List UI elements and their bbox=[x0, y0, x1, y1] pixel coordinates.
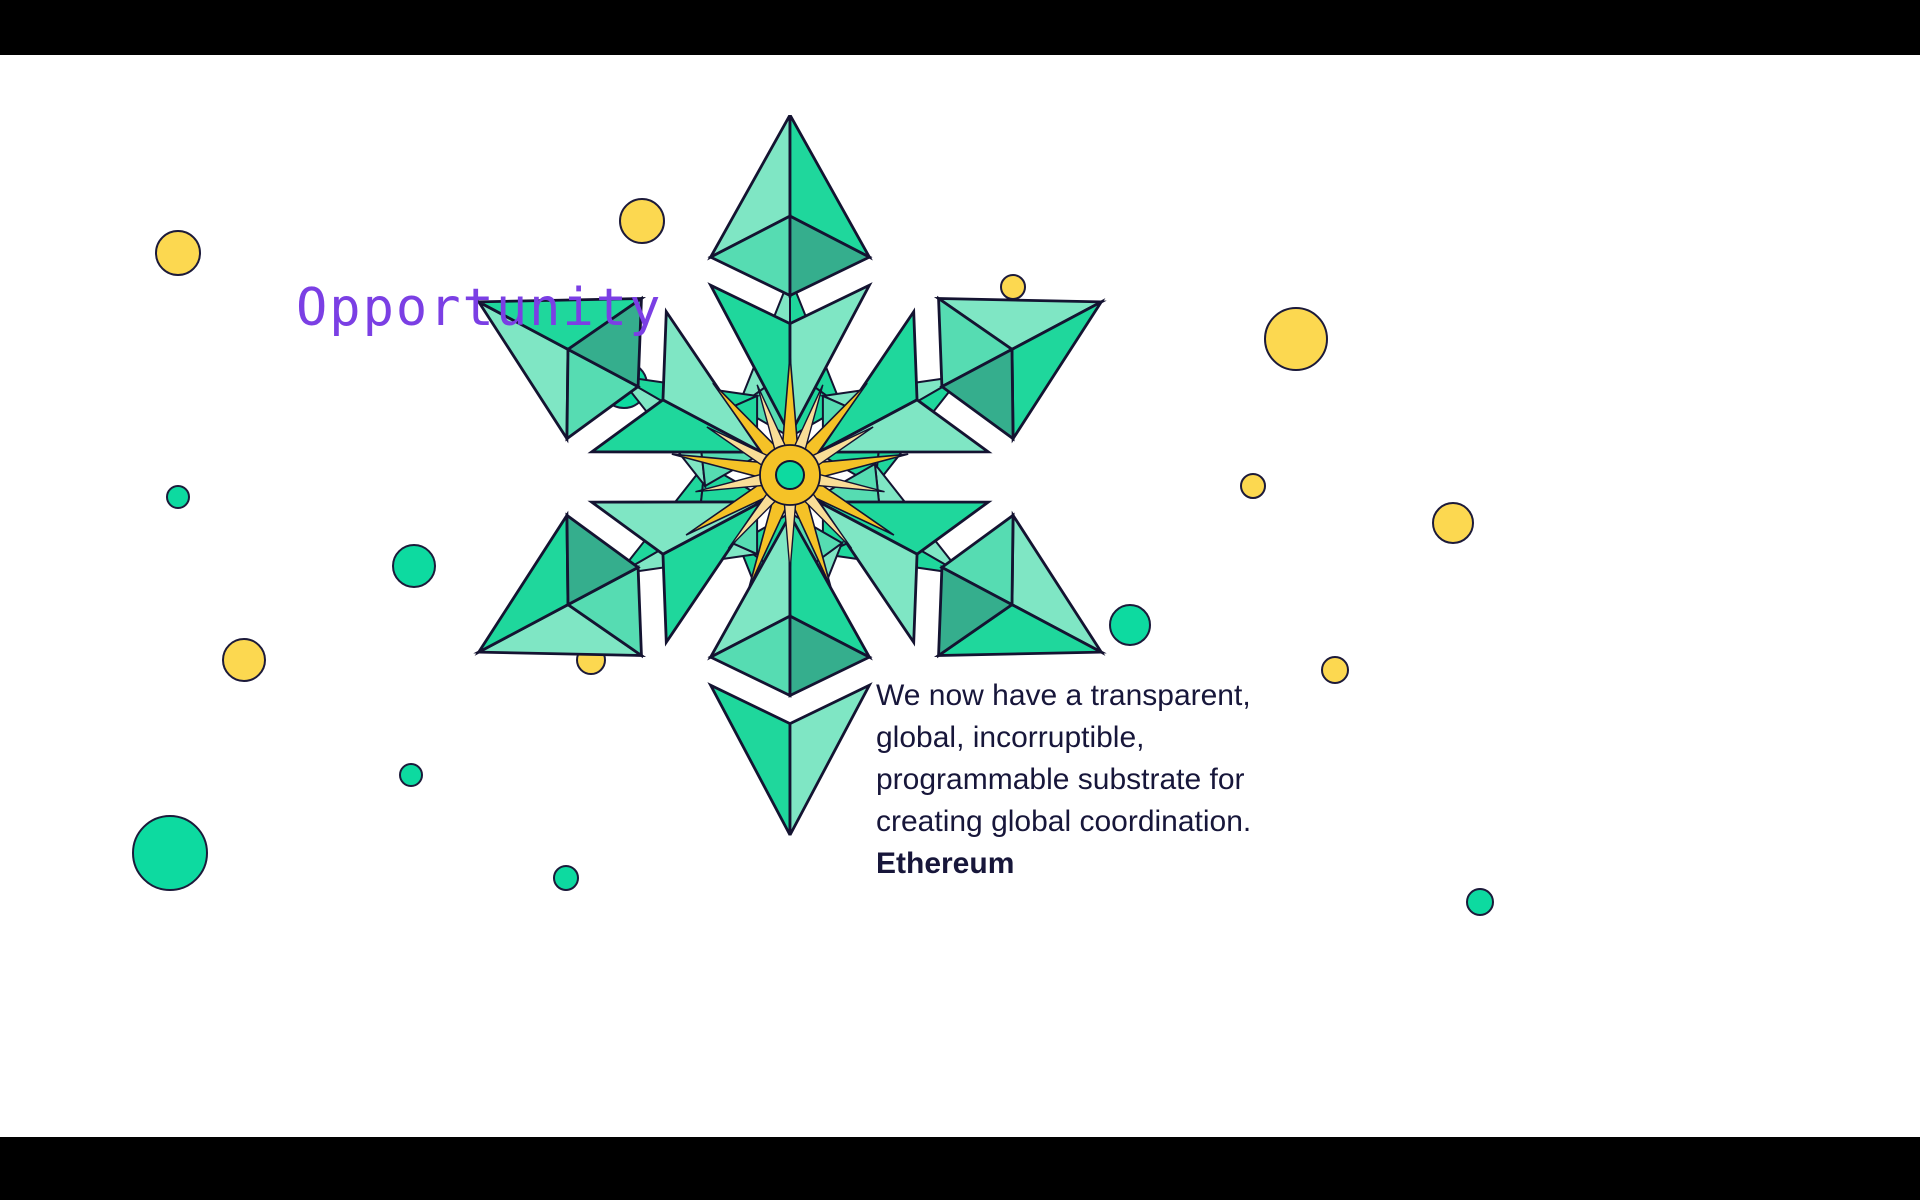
dot-yellow-8 bbox=[1321, 656, 1349, 684]
quote-source: Ethereum bbox=[876, 843, 1306, 885]
dot-yellow-7 bbox=[222, 638, 266, 682]
dot-yellow-4 bbox=[1264, 307, 1328, 371]
dot-teal-1 bbox=[166, 485, 190, 509]
dot-yellow-1 bbox=[155, 230, 201, 276]
dot-yellow-5 bbox=[1240, 473, 1266, 499]
dot-yellow-6 bbox=[1432, 502, 1474, 544]
slide-content: Opportunity We now have a transparent, g… bbox=[0, 55, 1920, 1137]
letterbox-bar-top bbox=[0, 0, 1920, 55]
slide-canvas: Opportunity We now have a transparent, g… bbox=[0, 0, 1920, 1200]
slide-title: Opportunity bbox=[296, 278, 662, 338]
quote-block: We now have a transparent, global, incor… bbox=[876, 675, 1306, 885]
starburst-center-dot bbox=[776, 461, 804, 489]
letterbox-bar-bottom bbox=[0, 1137, 1920, 1200]
dot-teal-5 bbox=[132, 815, 208, 891]
dot-teal-7 bbox=[1466, 888, 1494, 916]
quote-text: We now have a transparent, global, incor… bbox=[876, 675, 1306, 843]
dot-teal-4 bbox=[399, 763, 423, 787]
